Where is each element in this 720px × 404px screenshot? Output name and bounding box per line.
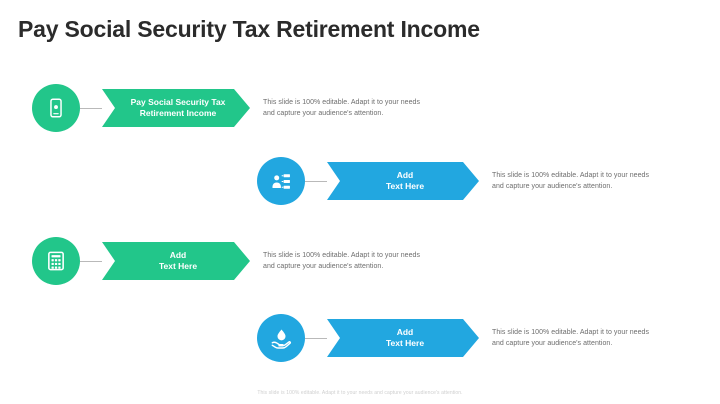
banner-text: Add Text Here (135, 250, 217, 273)
content-row-3[interactable]: Add Text Here This slide is 100% editabl… (32, 233, 420, 289)
banner-label-3[interactable]: Add Text Here (102, 242, 250, 280)
content-row-1[interactable]: Pay Social Security Tax Retirement Incom… (32, 80, 420, 136)
slide-canvas: Pay Social Security Tax Retirement Incom… (0, 0, 720, 404)
banner-label-4[interactable]: Add Text Here (327, 319, 479, 357)
banner-text: Add Text Here (362, 327, 444, 350)
content-row-2[interactable]: Add Text Here This slide is 100% editabl… (257, 153, 649, 209)
calculator-icon (45, 250, 67, 272)
page-title: Pay Social Security Tax Retirement Incom… (18, 16, 480, 43)
banner-text: Pay Social Security Tax Retirement Incom… (107, 97, 246, 120)
row-description-3: This slide is 100% editable. Adapt it to… (263, 250, 420, 273)
organization-chart-icon (270, 170, 293, 193)
icon-badge-mobile-phone[interactable] (32, 84, 80, 132)
banner-text: Add Text Here (362, 170, 444, 193)
footer-note: This slide is 100% editable. Adapt it to… (0, 390, 720, 396)
content-row-4[interactable]: Add Text Here This slide is 100% editabl… (257, 310, 649, 366)
row-description-4: This slide is 100% editable. Adapt it to… (492, 327, 649, 350)
banner-label-2[interactable]: Add Text Here (327, 162, 479, 200)
connector-line (305, 181, 327, 182)
connector-line (80, 261, 102, 262)
mobile-phone-icon (45, 97, 67, 119)
connector-line (80, 108, 102, 109)
row-description-1: This slide is 100% editable. Adapt it to… (263, 97, 420, 120)
hand-holding-drop-icon (270, 327, 293, 350)
icon-badge-hand-holding-drop[interactable] (257, 314, 305, 362)
icon-badge-organization-chart[interactable] (257, 157, 305, 205)
icon-badge-calculator[interactable] (32, 237, 80, 285)
banner-label-1[interactable]: Pay Social Security Tax Retirement Incom… (102, 89, 250, 127)
row-description-2: This slide is 100% editable. Adapt it to… (492, 170, 649, 193)
connector-line (305, 338, 327, 339)
